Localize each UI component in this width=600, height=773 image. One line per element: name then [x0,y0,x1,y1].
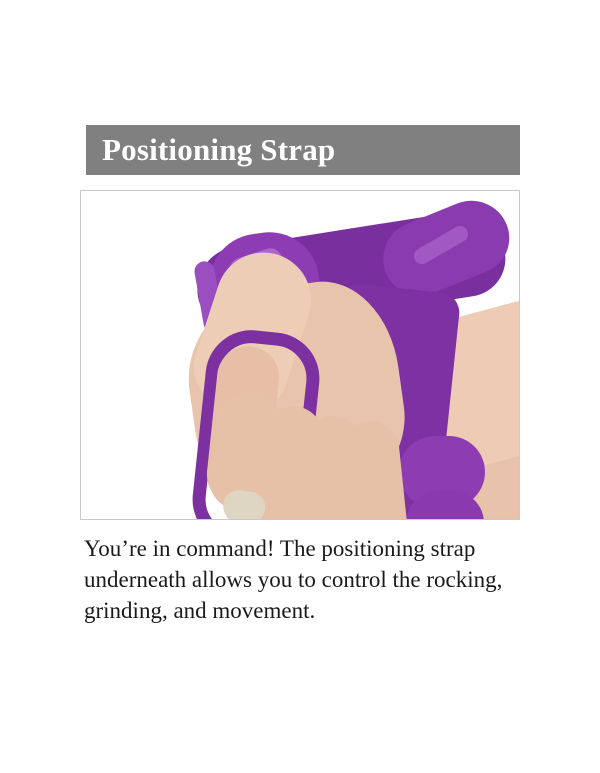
title-bar: Positioning Strap [80,125,520,175]
product-feature-page: Positioning Strap [0,0,600,773]
product-photo [81,191,519,519]
caption-text: You’re in command! The positioning strap… [84,533,536,626]
product-image-panel [80,190,520,520]
page-title: Positioning Strap [86,125,335,175]
